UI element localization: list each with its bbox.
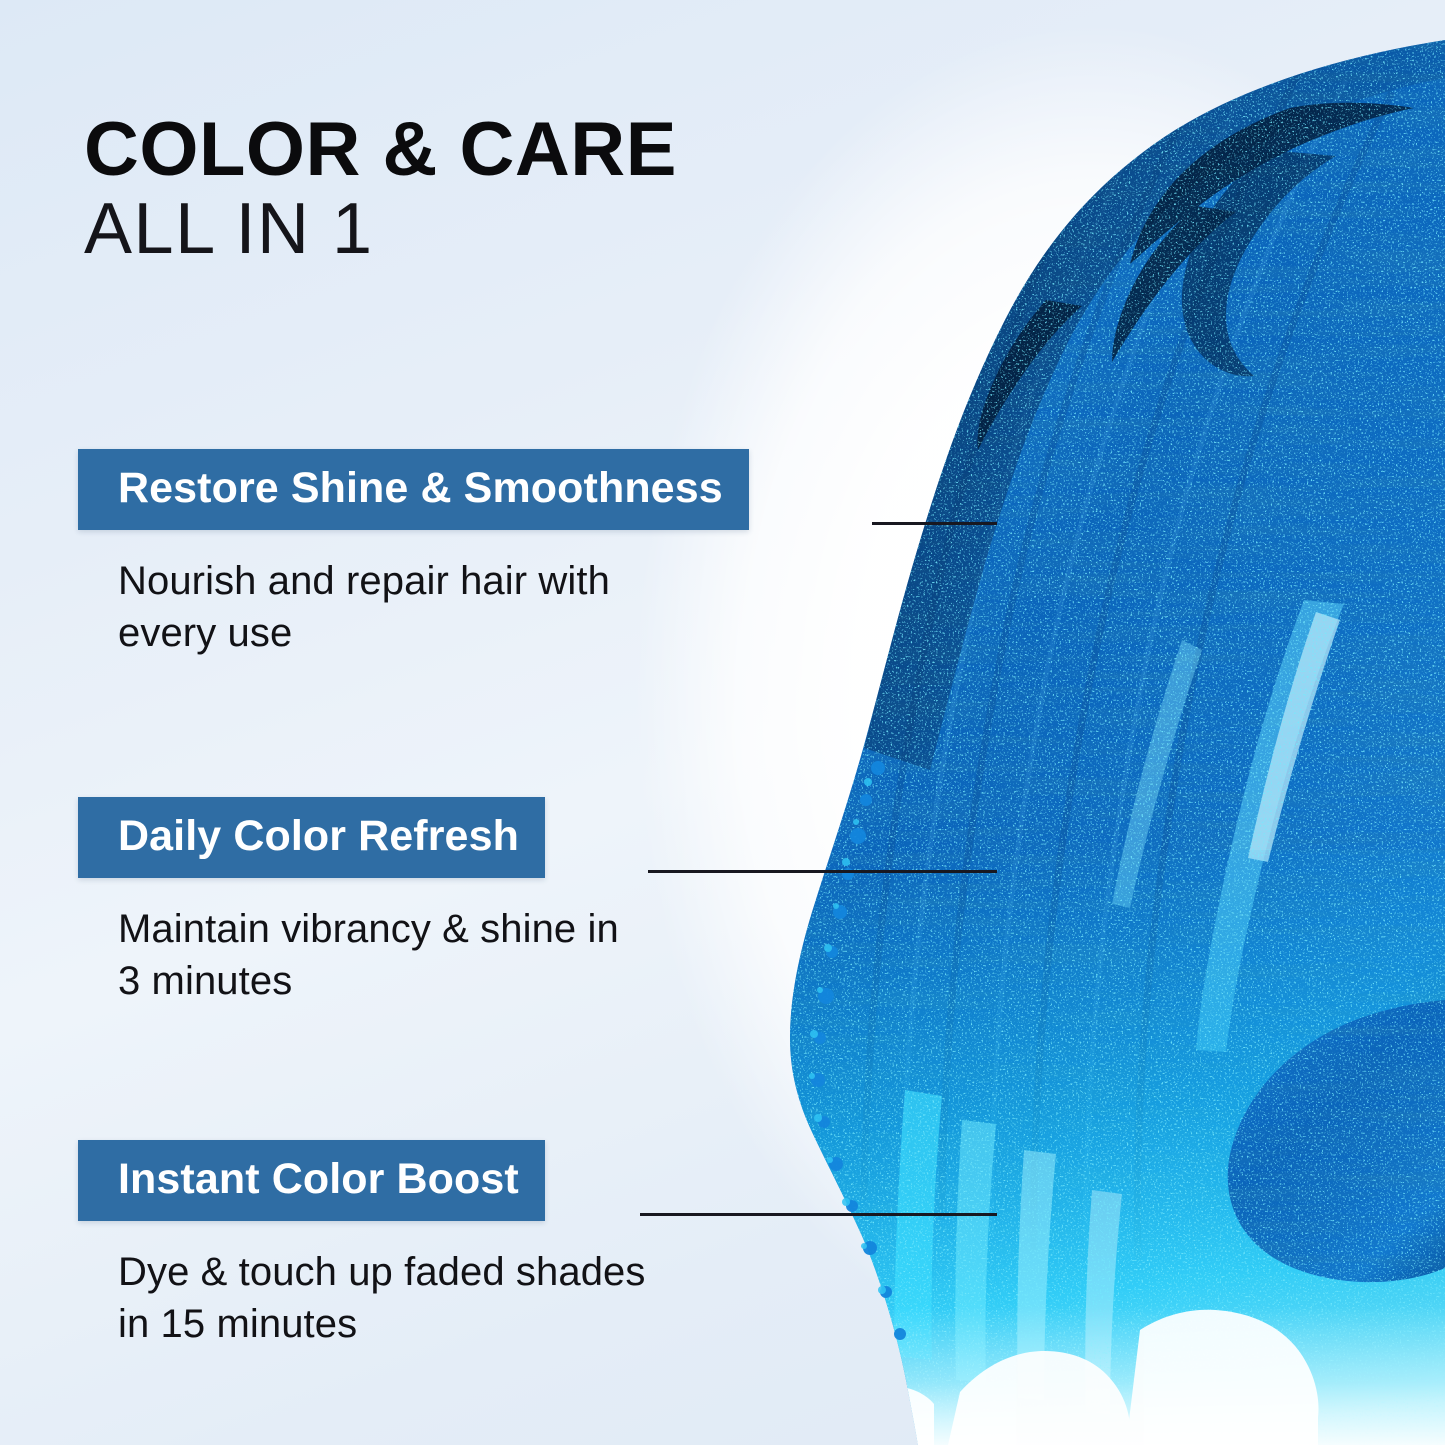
feature-title-bar: Instant Color Boost — [78, 1140, 545, 1221]
feature-title-text: Instant Color Boost — [118, 1155, 519, 1203]
feature-description: Nourish and repair hair with every use — [118, 555, 749, 659]
feature-block-daily-color-refresh: Daily Color Refresh Maintain vibrancy & … — [78, 797, 619, 1007]
headline-line-1: COLOR & CARE — [84, 113, 904, 187]
feature-title-bar: Restore Shine & Smoothness — [78, 449, 749, 530]
feature-connector-line — [640, 1213, 997, 1216]
feature-block-restore-shine: Restore Shine & Smoothness Nourish and r… — [78, 449, 749, 659]
feature-description: Dye & touch up faded shades in 15 minute… — [118, 1246, 646, 1350]
feature-block-instant-color-boost: Instant Color Boost Dye & touch up faded… — [78, 1140, 646, 1350]
feature-connector-line — [872, 522, 997, 525]
headline-line-2: ALL IN 1 — [84, 193, 904, 265]
feature-connector-line — [648, 870, 997, 873]
page-title: COLOR & CARE ALL IN 1 — [84, 113, 904, 265]
infographic-canvas: COLOR & CARE ALL IN 1 Restore Shine & Sm… — [0, 0, 1445, 1445]
feature-title-bar: Daily Color Refresh — [78, 797, 545, 878]
feature-description: Maintain vibrancy & shine in 3 minutes — [118, 903, 619, 1007]
feature-title-text: Daily Color Refresh — [118, 812, 519, 860]
feature-title-text: Restore Shine & Smoothness — [118, 464, 723, 512]
